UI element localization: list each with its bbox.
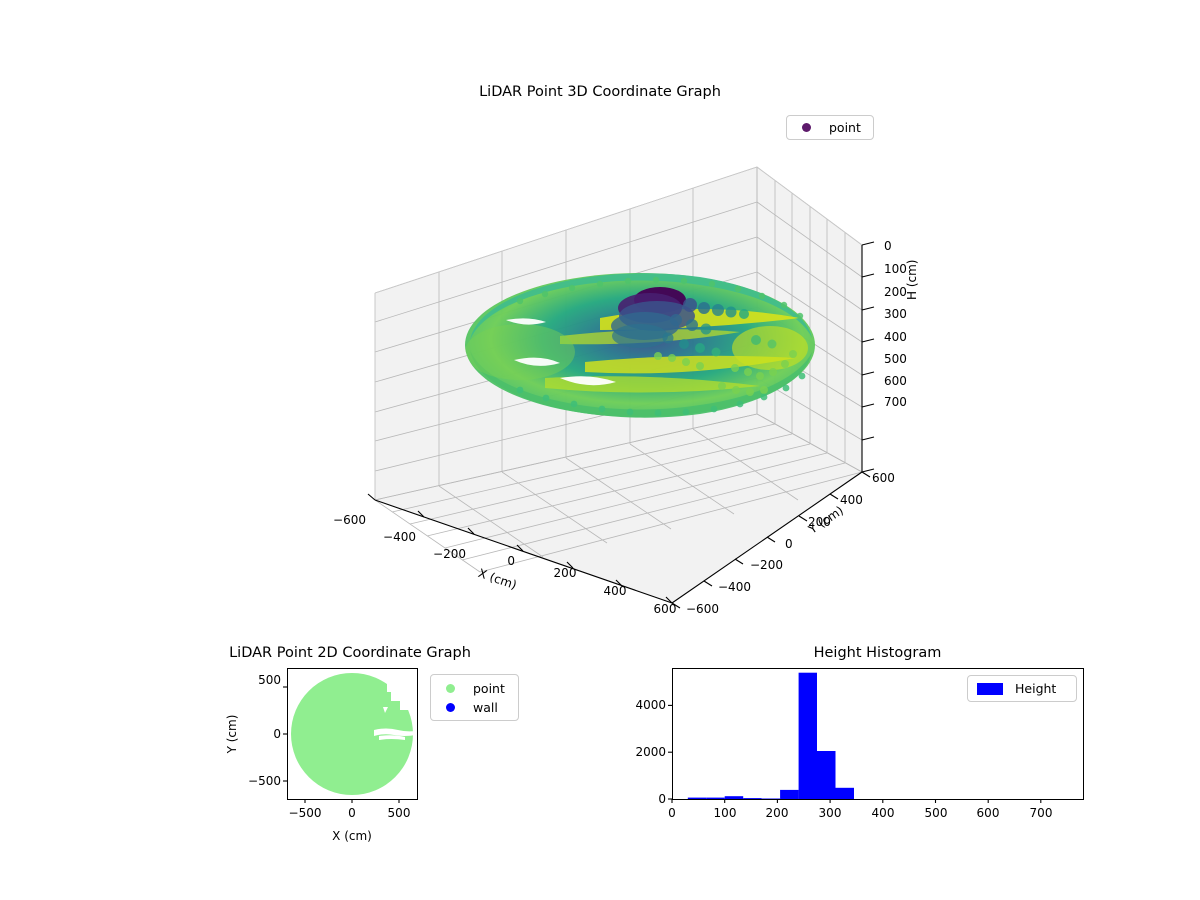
chart-hist-ticks [668, 705, 1041, 803]
axis-z [862, 242, 874, 472]
chart-2d-x-axis-label: X (cm) [332, 829, 372, 843]
chart-hist-x-tick-700: 700 [1030, 806, 1053, 820]
chart-3d-axes: 0 100 200 300 400 500 600 700 H (cm) −60… [0, 0, 1200, 640]
x-tick--600: −600 [333, 513, 366, 527]
chart-3d-canvas [0, 0, 1200, 640]
legend-marker-height-icon [975, 683, 1005, 695]
x-tick-0: 0 [507, 554, 515, 568]
wall-dot-icon [446, 703, 455, 712]
chart-hist-title: Height Histogram [670, 645, 1085, 661]
chart-hist-x-tick-100: 100 [714, 806, 737, 820]
chart-hist-y-tick-2000: 2000 [635, 745, 666, 759]
z-tick-400: 400 [884, 330, 907, 344]
chart-hist-legend: Height [967, 675, 1077, 702]
z-axis-label: H (cm) [905, 260, 919, 301]
chart-2d-title: LiDAR Point 2D Coordinate Graph [140, 645, 560, 661]
z-tick-0: 0 [884, 239, 892, 253]
chart-2d-y-axis-label: Y (cm) [225, 715, 239, 754]
legend-label-point-2d: point [473, 681, 505, 696]
chart-2d-y-tick-0: 0 [273, 727, 281, 741]
z-tick-200: 200 [884, 285, 907, 299]
histogram-bars [688, 673, 854, 799]
x-tick-200: 200 [554, 566, 577, 580]
chart-hist-x-tick-0: 0 [668, 806, 676, 820]
chart-2d-x-tick-0: 0 [348, 806, 356, 820]
x-tick--400: −400 [383, 530, 416, 544]
legend-item-wall-2d: wall [437, 698, 512, 717]
z-tick-600: 600 [884, 374, 907, 388]
chart-2d-legend: point wall [430, 674, 519, 721]
chart-hist-x-tick-600: 600 [977, 806, 1000, 820]
z-tick-700: 700 [884, 395, 907, 409]
chart-2d-x-tick--500: −500 [289, 806, 322, 820]
height-patch-icon [977, 683, 1003, 695]
legend-item-point-2d: point [437, 679, 512, 698]
chart-2d-axes [287, 668, 418, 800]
y-tick--200: −200 [750, 558, 783, 572]
z-tick-500: 500 [884, 352, 907, 366]
x-tick--200: −200 [433, 547, 466, 561]
z-tick-100: 100 [884, 262, 907, 276]
y-tick-400: 400 [840, 493, 863, 507]
matplotlib-figure: LiDAR Point 3D Coordinate Graph point [0, 0, 1200, 900]
legend-marker-wall-icon [437, 703, 463, 712]
chart-hist-x-tick-400: 400 [872, 806, 895, 820]
legend-label-wall: wall [473, 700, 498, 715]
legend-label-height: Height [1015, 681, 1056, 696]
point-dot-icon-2d [446, 684, 455, 693]
y-tick-0: 0 [785, 537, 793, 551]
chart-hist-x-tick-200: 200 [766, 806, 789, 820]
chart-2d-x-tick-500: 500 [388, 806, 411, 820]
point-cloud-2d [291, 673, 418, 795]
x-tick-600: 600 [654, 602, 677, 616]
chart-2d-y-tick--500: −500 [248, 774, 281, 788]
legend-marker-point-icon-2d [437, 684, 463, 693]
chart-2d-y-tick-500: 500 [258, 673, 281, 687]
chart-2d-canvas [287, 668, 418, 800]
chart-hist-x-tick-300: 300 [819, 806, 842, 820]
legend-item-height: Height [975, 680, 1069, 697]
chart-hist-y-tick-4000: 4000 [635, 698, 666, 712]
y-tick--400: −400 [718, 580, 751, 594]
point-cloud-3d [465, 273, 815, 418]
z-tick-300: 300 [884, 307, 907, 321]
chart-hist-x-tick-500: 500 [925, 806, 948, 820]
chart-hist-y-tick-0: 0 [658, 792, 666, 806]
y-tick--600: −600 [686, 602, 719, 616]
x-tick-400: 400 [604, 584, 627, 598]
y-tick-600: 600 [872, 471, 895, 485]
